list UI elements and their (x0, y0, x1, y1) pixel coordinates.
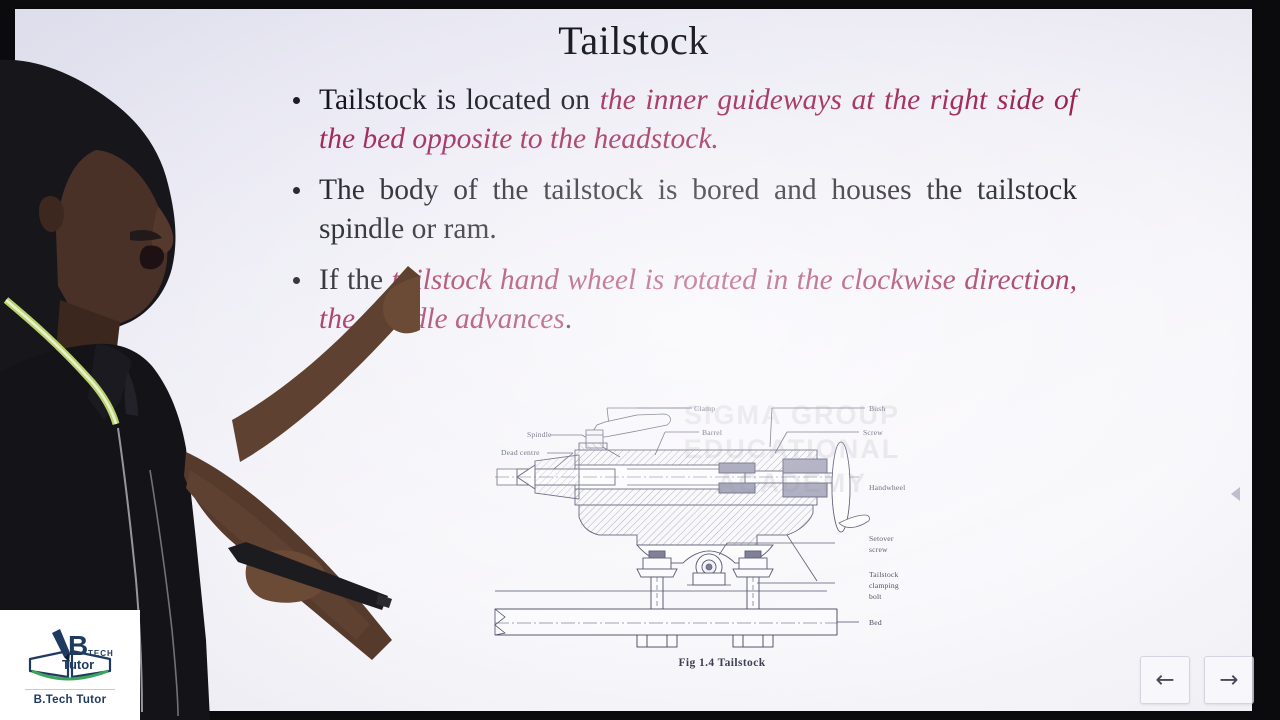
bullet-3-segment-3: . (565, 303, 572, 335)
bullet-1-segment-1: Tailstock is located on (319, 84, 600, 116)
figure-label-clamping-bolt: Tailstock (869, 570, 899, 579)
logo-label: B.Tech Tutor (34, 694, 107, 706)
presentation-slide: Tailstock Tailstock is located on the in… (15, 9, 1252, 711)
video-frame: Tailstock Tailstock is located on the in… (0, 0, 1280, 720)
slide-bullet-list: Tailstock is located on the inner guidew… (277, 81, 1077, 351)
figure-label-handwheel: Handwheel (869, 483, 905, 492)
previous-slide-button[interactable]: ← (1140, 656, 1190, 704)
slide-bullet-2: The body of the tailstock is bored and h… (277, 171, 1077, 249)
logo-tutor-text: Tutor (62, 657, 94, 672)
figure-label-clamp: Clamp (694, 404, 715, 413)
book-pen-logo-icon: B TECH Tutor (22, 625, 118, 687)
slide-bullet-3: If the tailstock hand wheel is rotated i… (277, 261, 1077, 339)
figure-label-setover-screw-2: screw (869, 545, 888, 554)
bullet-3-segment-2: tailstock hand wheel is rotated in the c… (319, 264, 1077, 335)
bullet-2-segment-1: The body of the tailstock is bored and h… (319, 174, 1077, 245)
page-title: Tailstock (15, 21, 1252, 61)
figure-label-clamping-bolt-2: clamping (869, 581, 899, 590)
screen-side-arrow-icon (1231, 487, 1240, 501)
figure-label-bed: Bed (869, 618, 882, 627)
arrow-left-icon: ← (1155, 669, 1174, 692)
figure-label-screw: Screw (863, 428, 883, 437)
figure-label-barrel: Barrel (702, 428, 722, 437)
channel-logo: B TECH Tutor B.Tech Tutor (0, 610, 140, 720)
figure-label-clamping-bolt-3: bolt (869, 592, 882, 601)
figure-label-spindle: Spindle (527, 430, 552, 439)
bullet-3-segment-1: If the (319, 264, 392, 296)
next-slide-button[interactable]: → (1204, 656, 1254, 704)
figure-label-dead-centre: Dead centre (501, 448, 540, 457)
figure-caption: Fig 1.4 Tailstock (487, 657, 957, 669)
logo-divider (25, 689, 115, 690)
tailstock-diagram-svg: Spindle Dead centre Clamp Barrel Bush Sc… (487, 395, 957, 667)
navigation-controls: ← → (1140, 656, 1254, 704)
slide-bullet-1: Tailstock is located on the inner guidew… (277, 81, 1077, 159)
figure-label-bush: Bush (869, 404, 885, 413)
arrow-right-icon: → (1219, 669, 1238, 692)
figure-label-setover-screw: Setover (869, 534, 894, 543)
tailstock-figure: SIGMA GROUP EDUCATIONAL ACADEMY (487, 395, 957, 695)
